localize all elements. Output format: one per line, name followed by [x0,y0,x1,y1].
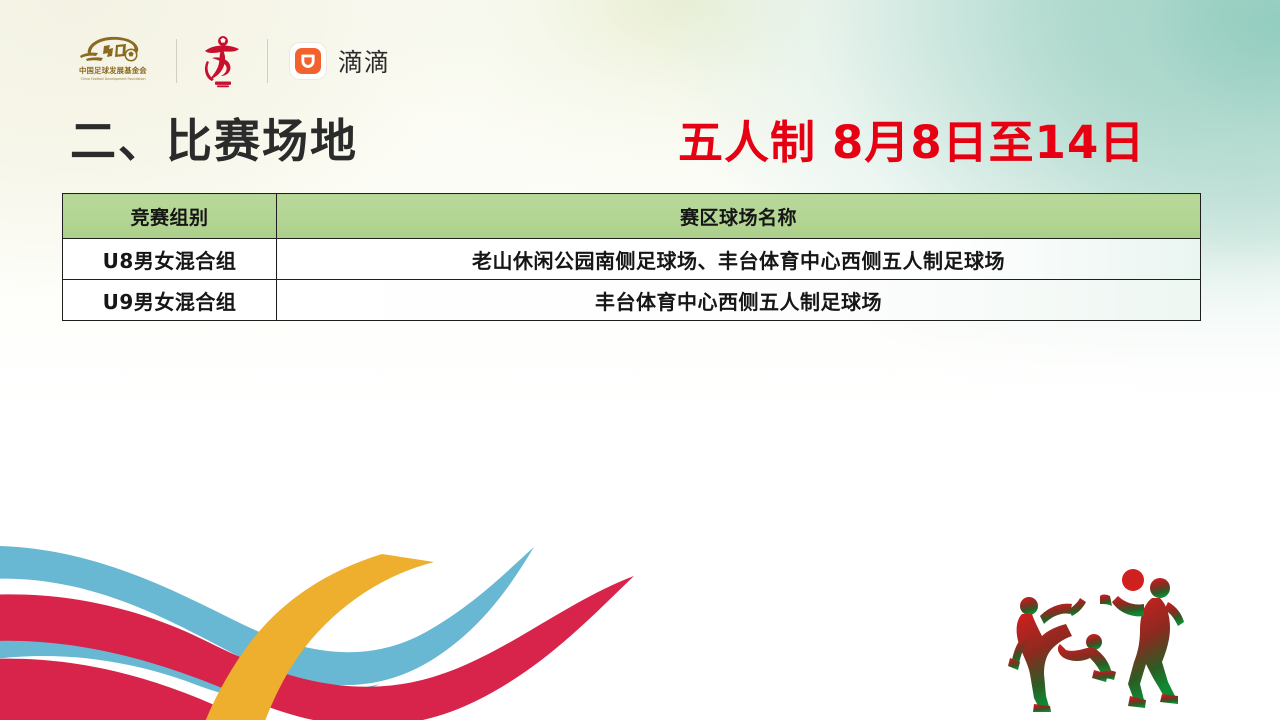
competition-venue-table: 竞赛组别 赛区球场名称 U8男女混合组 老山休闲公园南侧足球场、丰台体育中心西侧… [62,193,1201,321]
football-foundation-logo-icon [76,34,150,64]
cell-group: U9男女混合组 [63,280,277,321]
cell-venue: 丰台体育中心西侧五人制足球场 [277,280,1201,321]
highlight-dates-label: 8月8日至14日 [832,116,1145,169]
sponsor-logo-bar: 中国足球发展基金会 China Football Development Fou… [72,34,390,88]
didi-logo-label: 滴滴 [338,43,390,79]
soccer-ball-icon [1122,569,1144,591]
page-title: 二、比赛场地 [70,118,358,164]
table-header-row: 竞赛组别 赛区球场名称 [63,194,1201,239]
youth-league-logo [199,34,245,88]
highlight-banner: 五人制8月8日至14日 [678,120,1145,165]
didi-logo: 滴滴 [290,43,390,79]
logo-divider-2 [267,39,268,83]
table-header-group: 竞赛组别 [63,194,277,239]
ribbon-swoosh-graphic [0,484,674,720]
highlight-format-label: 五人制 [678,116,816,169]
table-row: U9男女混合组 丰台体育中心西侧五人制足球场 [63,280,1201,321]
table-header-venue: 赛区球场名称 [277,194,1201,239]
player-bending-silhouette [1058,634,1116,682]
soccer-player-silhouettes [988,558,1204,714]
presentation-slide: 中国足球发展基金会 China Football Development Fou… [0,0,1280,720]
cfdf-logo: 中国足球发展基金会 China Football Development Fou… [72,34,154,88]
logo-divider-1 [176,39,177,83]
youth-football-league-logo-icon [199,34,245,88]
cfdf-logo-en-label: China Football Development Foundation [81,77,146,81]
cell-venue: 老山休闲公园南侧足球场、丰台体育中心西侧五人制足球场 [277,239,1201,280]
didi-app-icon [290,43,326,79]
cfdf-logo-cn-label: 中国足球发展基金会 [79,65,147,75]
player-heading-silhouette [1100,578,1184,708]
table-row: U8男女混合组 老山休闲公园南侧足球场、丰台体育中心西侧五人制足球场 [63,239,1201,280]
cell-group: U8男女混合组 [63,239,277,280]
